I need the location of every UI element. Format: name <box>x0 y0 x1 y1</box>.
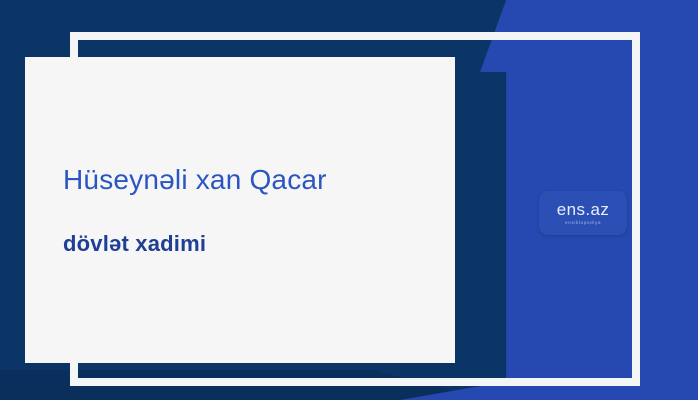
logo-tagline: ensiklopediya <box>565 221 601 226</box>
ens-az-logo-icon[interactable]: ens.az ensiklopediya <box>539 191 627 235</box>
slide-canvas: Hüseynəli xan Qacar dövlət xadimi ens.az… <box>0 0 698 400</box>
logo-wordmark: ens.az <box>557 201 610 218</box>
page-subtitle: dövlət xadimi <box>63 231 417 257</box>
page-title: Hüseynəli xan Qacar <box>63 163 417 197</box>
content-card: Hüseynəli xan Qacar dövlət xadimi <box>25 57 455 363</box>
